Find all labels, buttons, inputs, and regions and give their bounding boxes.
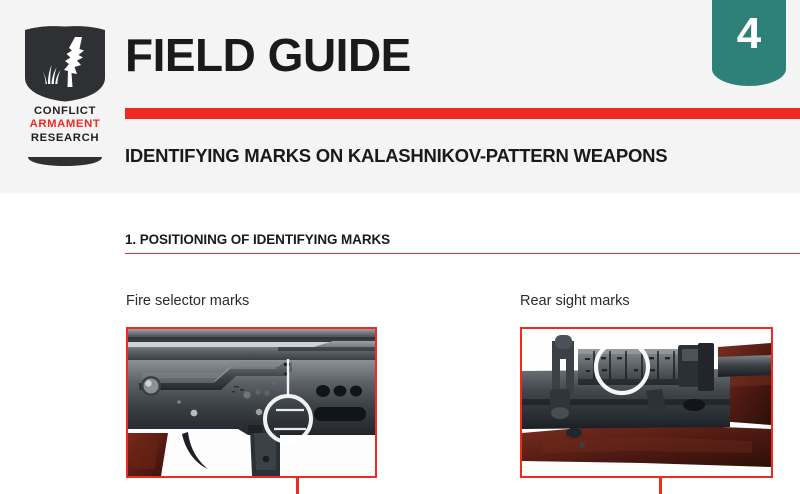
logo-line-conflict: CONFLICT (19, 105, 111, 118)
page-header: CONFLICT ARMAMENT RESEARCH FIELD GUIDE I… (0, 0, 800, 193)
section-heading: 1. POSITIONING OF IDENTIFYING MARKS (125, 232, 390, 247)
logo-underline-swoosh (28, 157, 102, 166)
figure-caption-rear-sight: Rear sight marks (520, 293, 630, 309)
section-divider-rule (125, 253, 800, 254)
page-subtitle: IDENTIFYING MARKS ON KALASHNIKOV-PATTERN… (125, 144, 667, 168)
field-guide-page: CONFLICT ARMAMENT RESEARCH FIELD GUIDE I… (0, 0, 800, 494)
figure-image-rear-sight[interactable] (520, 327, 773, 478)
title-divider-bar (125, 108, 800, 119)
figure-image-fire-selector[interactable] (126, 327, 377, 478)
figure-connector-left (296, 478, 299, 494)
figure-connector-right (659, 478, 662, 494)
page-title: FIELD GUIDE (125, 30, 411, 80)
organisation-logo: CONFLICT ARMAMENT RESEARCH (19, 26, 111, 172)
shield-rifle-grass-icon (23, 26, 107, 102)
guide-number-value: 4 (712, 8, 786, 60)
figure-caption-fire-selector: Fire selector marks (126, 293, 249, 309)
logo-line-research: RESEARCH (19, 132, 111, 145)
logo-line-armament: ARMAMENT (19, 118, 111, 131)
guide-number-badge: 4 (712, 0, 786, 86)
logo-wordmark: CONFLICT ARMAMENT RESEARCH (19, 105, 111, 145)
page-body: 1. POSITIONING OF IDENTIFYING MARKS Fire… (0, 193, 800, 494)
